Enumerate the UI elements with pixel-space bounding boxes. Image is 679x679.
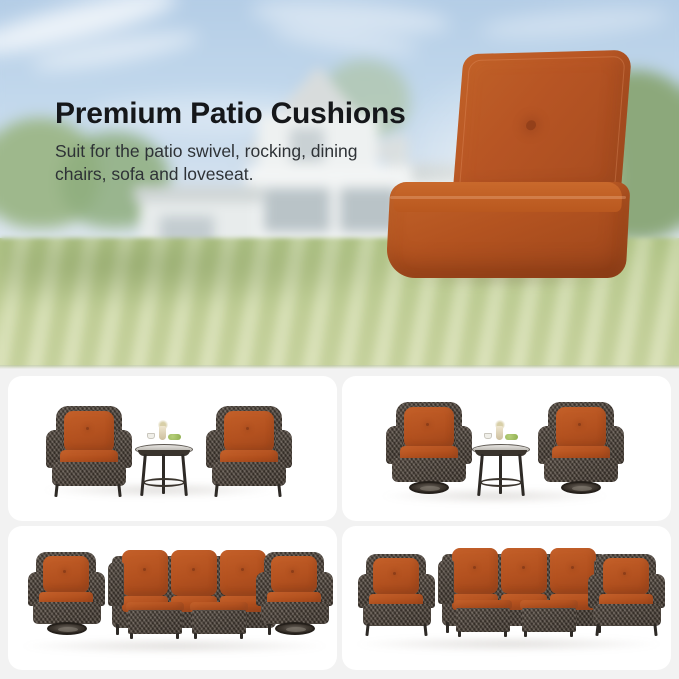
swivel-chair-right <box>258 552 332 634</box>
cushion-back-piece <box>452 50 632 202</box>
chair-back-cushion <box>556 407 606 449</box>
ottoman-right <box>190 602 248 638</box>
swivel-chair-right <box>538 402 624 494</box>
swivel-base <box>561 481 601 494</box>
chair-leg <box>214 484 218 497</box>
hero-banner: Premium Patio Cushions Suit for the pati… <box>0 0 679 369</box>
swivel-chair-left <box>386 402 472 494</box>
swivel-base <box>409 481 449 494</box>
chair-base-frame <box>52 462 126 486</box>
gallery-panel-bistro-armchairs[interactable] <box>8 376 337 521</box>
furniture-scene <box>342 526 671 671</box>
cup <box>484 433 492 439</box>
chair-base-frame <box>33 602 101 624</box>
ottoman-leg <box>458 631 461 637</box>
chair-base-frame <box>261 602 329 624</box>
ottoman-left <box>454 600 512 636</box>
chair-back-cushion <box>603 558 649 595</box>
table-leg <box>499 454 502 494</box>
ottoman-leg <box>130 633 133 639</box>
gallery-panel-swivel-rockers[interactable] <box>342 376 671 521</box>
ottoman-frame <box>522 608 576 632</box>
armchair-left <box>46 406 132 498</box>
ottoman-leg <box>176 633 179 639</box>
swivel-base <box>275 622 315 635</box>
ottoman-leg <box>524 631 527 637</box>
floor-shadow <box>22 638 327 654</box>
table-decor <box>486 426 516 446</box>
sofa-back-cushion <box>452 548 498 594</box>
sofa-arm-left <box>438 560 454 604</box>
swivel-base <box>47 622 87 635</box>
armchair-right <box>206 406 292 498</box>
ottoman-frame <box>456 608 510 632</box>
bistro-table <box>135 434 193 498</box>
sofa-leg <box>116 624 119 635</box>
hero-product-cushion <box>380 46 640 291</box>
ottoman-frame <box>128 610 182 634</box>
lounge-chair-right <box>590 554 664 636</box>
table-leg <box>181 454 188 496</box>
chair-leg <box>365 623 369 635</box>
gallery-panel-swivel-conversation-set[interactable] <box>8 526 337 671</box>
sofa-back-cushion <box>501 548 547 594</box>
swivel-chair-left <box>30 552 104 634</box>
product-gallery-grid <box>0 372 679 679</box>
fruit-bowl <box>168 434 181 440</box>
table-leg <box>477 454 484 496</box>
ottoman-leg <box>504 631 507 637</box>
chair-back-cushion <box>224 411 274 453</box>
sofa-leg <box>446 622 449 633</box>
vase <box>159 426 166 440</box>
table-leg <box>162 454 165 494</box>
chair-base-frame <box>392 458 466 482</box>
chair-back-cushion <box>43 556 89 593</box>
sofa-back-cushion <box>171 550 217 596</box>
table-ring <box>480 478 522 487</box>
furniture-scene <box>342 376 671 521</box>
ottoman-frame <box>192 610 246 634</box>
sofa-back-cushion <box>122 550 168 596</box>
ottoman-leg <box>194 633 197 639</box>
chair-back-cushion <box>271 556 317 593</box>
floor-shadow <box>356 636 661 652</box>
chair-back-cushion <box>404 407 454 449</box>
table-leg <box>518 454 525 496</box>
table-leg <box>140 454 147 496</box>
furniture-scene <box>8 526 337 671</box>
ottoman-left <box>126 602 184 638</box>
chair-base-frame <box>544 458 618 482</box>
sofa-arm-left <box>108 562 124 606</box>
cup <box>147 433 155 439</box>
hero-bottom-edge <box>0 365 679 369</box>
chair-back-cushion <box>64 411 114 453</box>
cushion-tuft-button <box>526 120 537 130</box>
vase <box>496 426 503 440</box>
lounge-chair-left <box>360 554 434 636</box>
bistro-table <box>472 434 530 498</box>
chair-base-frame <box>363 604 431 626</box>
table-decor <box>149 426 179 446</box>
ottoman-leg <box>570 631 573 637</box>
ottoman-leg <box>240 633 243 639</box>
cushion-seat-piping <box>390 196 626 199</box>
chair-base-frame <box>212 462 286 486</box>
ottoman-right <box>520 600 578 636</box>
gallery-panel-lounge-conversation-set[interactable] <box>342 526 671 671</box>
furniture-scene <box>8 376 337 521</box>
chair-base-frame <box>593 604 661 626</box>
chair-leg <box>54 484 58 497</box>
table-ring <box>143 478 185 487</box>
fruit-bowl <box>505 434 518 440</box>
chair-back-cushion <box>373 558 419 595</box>
chair-leg <box>595 623 599 635</box>
